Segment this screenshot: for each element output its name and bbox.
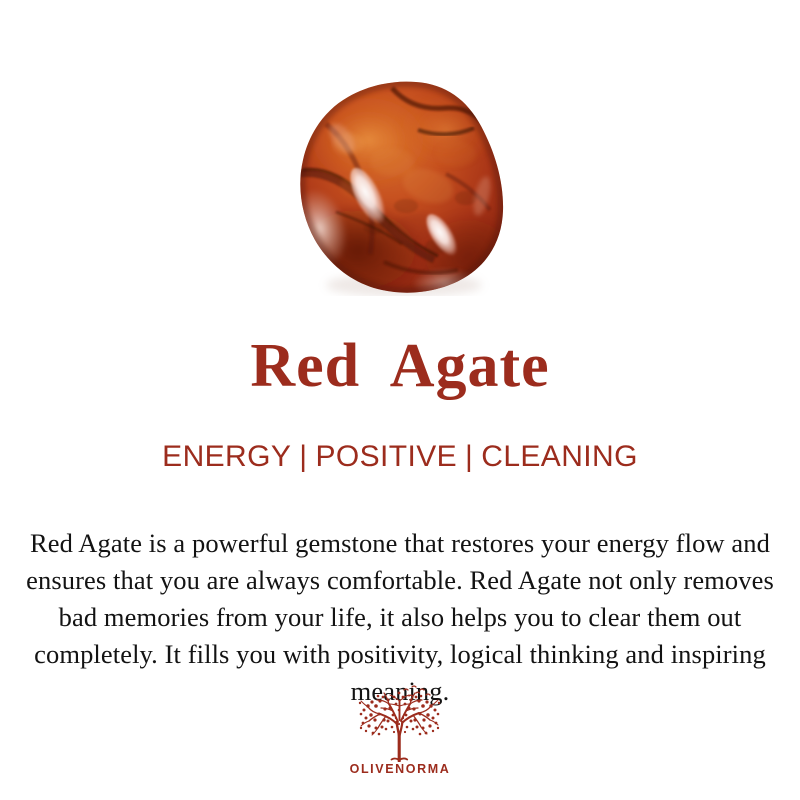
brand-logo: OLIVENORMA	[0, 684, 800, 776]
olivenorma-tree-icon	[352, 684, 448, 762]
brand-wordmark: OLIVENORMA	[350, 763, 451, 776]
keyword-list: ENERGY|POSITIVE|CLEANING	[0, 438, 800, 476]
keyword-separator-1: |	[291, 438, 315, 476]
description-paragraph: Red Agate is a powerful gemstone that re…	[24, 525, 776, 710]
keyword-separator-2: |	[457, 438, 481, 476]
gemstone-info-card: Red Agate ENERGY|POSITIVE|CLEANING Red A…	[0, 0, 800, 800]
red-agate-stone-illustration	[296, 78, 508, 296]
keyword-energy: ENERGY	[162, 440, 291, 473]
keyword-cleaning: CLEANING	[481, 440, 638, 473]
hero-image-area	[0, 0, 800, 320]
page-title: Red Agate	[0, 331, 800, 402]
keyword-positive: POSITIVE	[315, 440, 457, 473]
gemstone-image	[296, 78, 508, 296]
